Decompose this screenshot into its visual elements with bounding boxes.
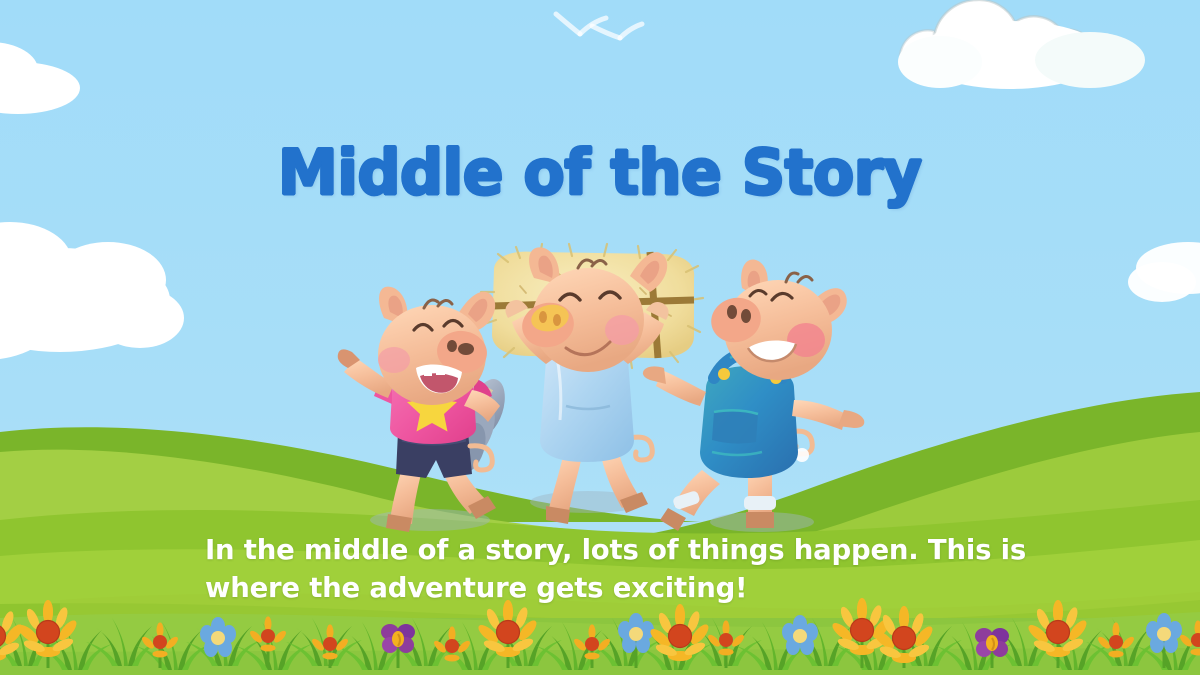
- flower-border-row: [0, 598, 1200, 670]
- grass-tufts: [0, 618, 1200, 670]
- flower-border-layer: [0, 0, 1200, 675]
- slide-root: Middle of the Story In the middle of a s…: [0, 0, 1200, 675]
- flowers: [0, 598, 1200, 663]
